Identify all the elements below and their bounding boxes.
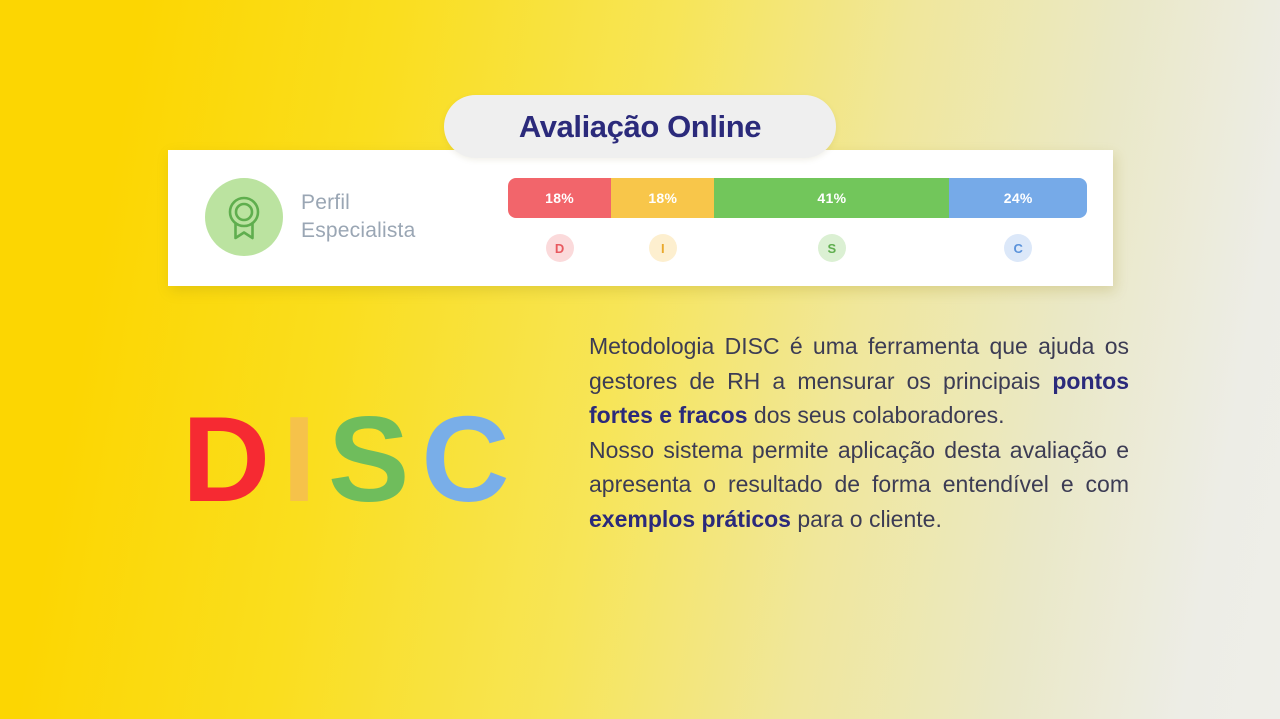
wordmark-letter-c: C [421, 398, 507, 520]
score-segment-c: 24% [949, 178, 1087, 218]
profile-label: Perfil Especialista [301, 189, 415, 244]
description-paragraph-1: Metodologia DISC é uma ferramenta que aj… [589, 329, 1129, 433]
award-badge-icon [205, 178, 283, 256]
page-title: Avaliação Online [519, 109, 761, 145]
letter-chip-c: C [1004, 234, 1032, 262]
letter-cell-i: I [611, 234, 714, 262]
description-copy: Metodologia DISC é uma ferramenta que aj… [589, 329, 1129, 536]
score-segment-c-value: 24% [1004, 190, 1033, 206]
paragraph-1-after: dos seus colaboradores. [748, 402, 1005, 428]
score-segment-d-value: 18% [545, 190, 574, 206]
wordmark-letter-d: D [182, 398, 268, 520]
letter-cell-d: D [508, 234, 611, 262]
disc-letter-legend: D I S C [508, 234, 1087, 262]
score-segment-d: 18% [508, 178, 611, 218]
letter-chip-d: D [546, 234, 574, 262]
paragraph-1-before: Metodologia DISC é uma ferramenta que aj… [589, 333, 1129, 394]
description-paragraph-2: Nosso sistema permite aplicação desta av… [589, 433, 1129, 537]
paragraph-2-before: Nosso sistema permite aplicação desta av… [589, 437, 1129, 498]
letter-cell-c: C [949, 234, 1087, 262]
profile-label-line1: Perfil [301, 189, 415, 217]
profile-label-line2: Especialista [301, 217, 415, 245]
wordmark-letter-i: I [282, 398, 314, 520]
profile-block: Perfil Especialista [205, 178, 415, 256]
paragraph-2-after: para o cliente. [791, 506, 942, 532]
score-bar: 18% 18% 41% 24% [508, 178, 1087, 218]
score-segment-i-value: 18% [648, 190, 677, 206]
paragraph-2-bold: exemplos práticos [589, 506, 791, 532]
result-card: Perfil Especialista [168, 150, 1113, 286]
page-title-pill: Avaliação Online [444, 95, 836, 158]
disc-wordmark: D I S C [182, 398, 508, 520]
letter-chip-i: I [649, 234, 677, 262]
letter-cell-s: S [714, 234, 949, 262]
letter-chip-s: S [818, 234, 846, 262]
score-segment-s-value: 41% [817, 190, 846, 206]
wordmark-letter-s: S [328, 398, 407, 520]
score-segment-s: 41% [714, 178, 949, 218]
score-segment-i: 18% [611, 178, 714, 218]
score-bar-area: 18% 18% 41% 24% [508, 178, 1087, 218]
